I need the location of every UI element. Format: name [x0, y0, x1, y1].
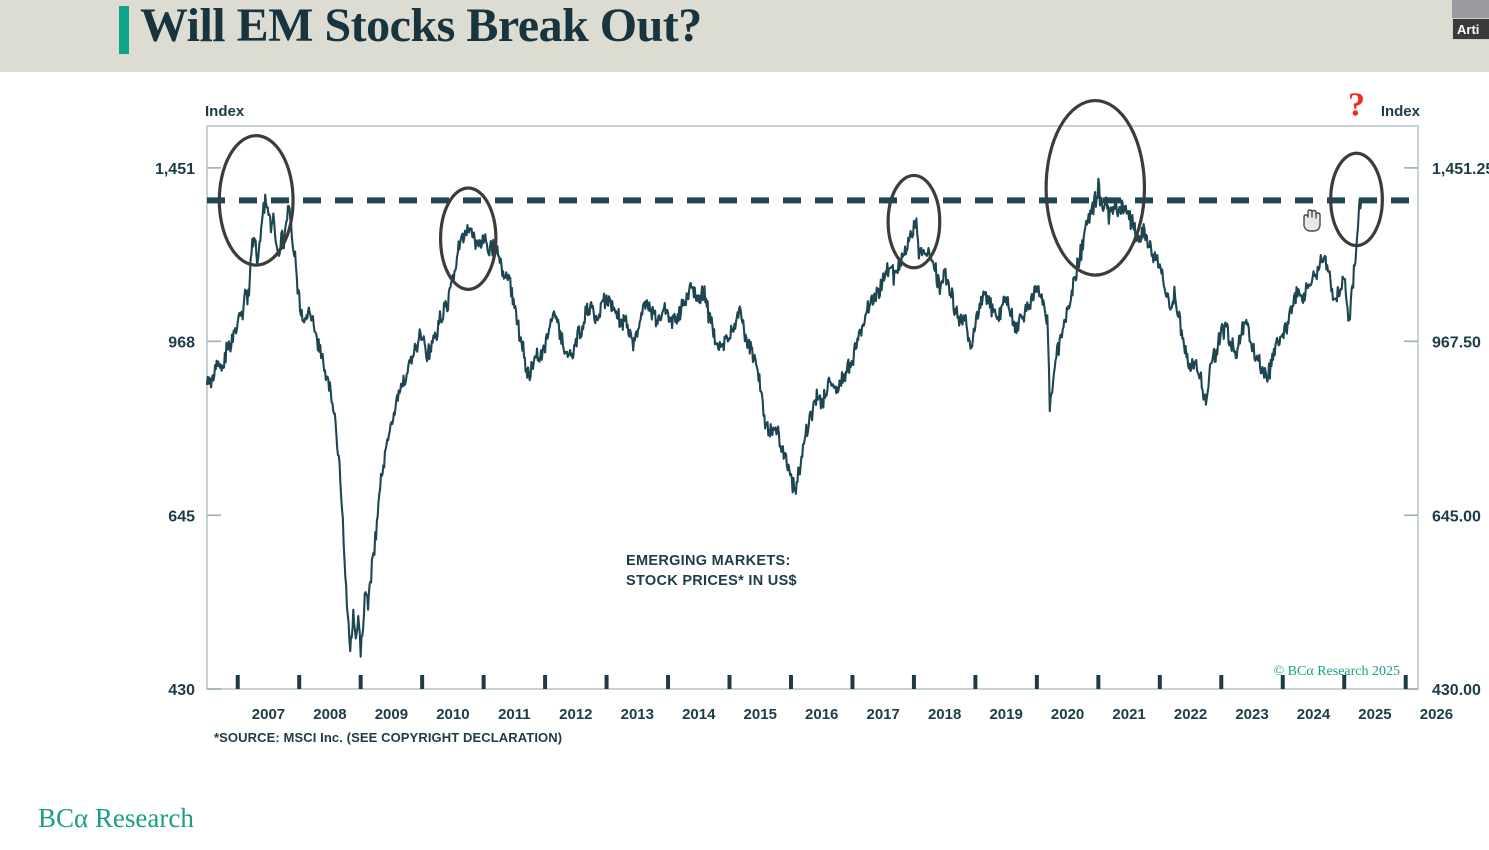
right-y-tick-label: 967.50 [1432, 334, 1481, 351]
right-y-tick-label: 1,451.25 [1432, 161, 1489, 178]
chart-annotations: ? [219, 86, 1382, 289]
axis-ticks [207, 168, 1418, 689]
x-tick-label-2016: 2016 [805, 706, 838, 723]
hand-cursor-pointer [1298, 206, 1324, 234]
series-label-line2: STOCK PRICES* IN US$ [626, 573, 797, 589]
left-y-tick-label: 430 [168, 682, 195, 699]
x-tick-label-2022: 2022 [1174, 706, 1207, 723]
x-tick-label-2018: 2018 [928, 706, 961, 723]
page-title: Will EM Stocks Break Out? [140, 0, 702, 53]
right-y-tick-label: 430.00 [1432, 682, 1481, 699]
left-y-tick-label: 968 [168, 334, 195, 351]
topright-tooltip: Arti [1452, 18, 1489, 40]
series-label-line1: EMERGING MARKETS: [626, 553, 791, 569]
left-y-tick-label: 645 [168, 508, 195, 525]
x-tick-label-2014: 2014 [682, 706, 716, 723]
x-tick-label-2009: 2009 [375, 706, 408, 723]
copyright-note: © BCα Research 2025 [1274, 664, 1400, 679]
x-tick-label-2020: 2020 [1051, 706, 1084, 723]
x-tick-label-2017: 2017 [867, 706, 900, 723]
x-tick-label-2021: 2021 [1112, 706, 1145, 723]
right-y-tick-label: 645.00 [1432, 508, 1481, 525]
x-tick-label-2019: 2019 [989, 706, 1022, 723]
x-tick-label-2013: 2013 [621, 706, 654, 723]
title-accent-bar [119, 6, 129, 54]
bca-research-logo: BCα Research [38, 803, 194, 834]
x-tick-label-2023: 2023 [1235, 706, 1268, 723]
x-tick-label-2011: 2011 [498, 706, 531, 723]
source-note: *SOURCE: MSCI Inc. (SEE COPYRIGHT DECLAR… [214, 730, 562, 745]
x-tick-label-2025: 2025 [1358, 706, 1391, 723]
left-y-tick-label: 1,451 [155, 161, 195, 178]
chart-container[interactable]: ? 1,4511,451.25968967.50645645.00430430.… [0, 72, 1489, 772]
x-tick-label-2007: 2007 [252, 706, 285, 723]
question-mark-annotation: ? [1348, 86, 1365, 123]
x-tick-label-2012: 2012 [559, 706, 592, 723]
right-axis-unit-label: Index [1381, 103, 1421, 120]
x-tick-label-2008: 2008 [313, 706, 346, 723]
x-tick-label-2010: 2010 [436, 706, 469, 723]
x-tick-label-2026: 2026 [1420, 706, 1453, 723]
x-tick-label-2015: 2015 [744, 706, 777, 723]
left-axis-unit-label: Index [205, 103, 245, 120]
em-stocks-line-chart[interactable]: ? 1,4511,451.25968967.50645645.00430430.… [0, 72, 1489, 772]
x-tick-label-2024: 2024 [1297, 706, 1331, 723]
